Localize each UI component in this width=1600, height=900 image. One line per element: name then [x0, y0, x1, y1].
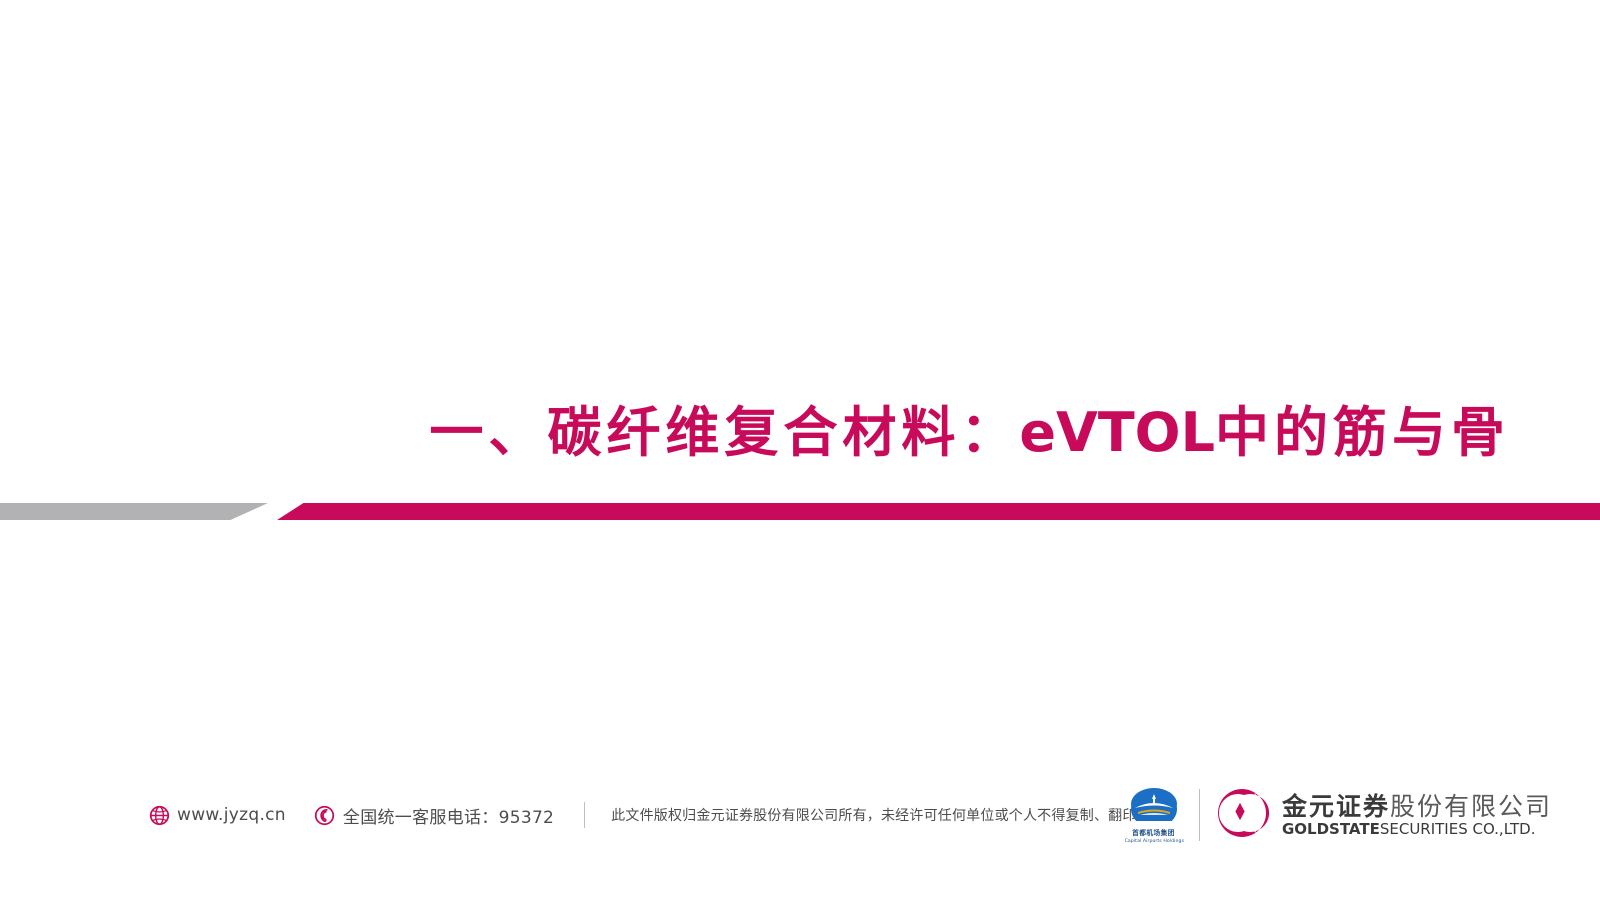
capital-airports-logo: 首都机场集团 Capital Airports Holdings: [1123, 787, 1185, 844]
footer-separator: [584, 802, 585, 828]
divider-gray-segment: [0, 503, 268, 520]
footer-copyright: 此文件版权归金元证券股份有限公司所有，未经许可任何单位或个人不得复制、翻印。: [611, 805, 1151, 825]
footer-info-group: www.jyzq.cn 全国统一客服电话：95372 此文件版权归金元证券股份有…: [148, 800, 1151, 830]
page-title-container: 一、碳纤维复合材料：eVTOL中的筋与骨: [0, 385, 1510, 480]
page-title: 一、碳纤维复合材料：eVTOL中的筋与骨: [429, 405, 1510, 460]
divider-accent-segment: [277, 503, 1600, 520]
goldstate-name-cn: 金元证券股份有限公司: [1282, 793, 1552, 820]
goldstate-crescent-icon: [1214, 787, 1270, 844]
section-divider-slide: 一、碳纤维复合材料：eVTOL中的筋与骨 www.jyzq.cn: [0, 0, 1600, 900]
page-title-prefix: 一、碳纤维复合材料：: [429, 400, 1019, 464]
capital-airports-name-cn: 首都机场集团: [1133, 828, 1176, 838]
goldstate-name-cn-thin: 股份有限公司: [1390, 792, 1552, 821]
page-title-suffix: 中的筋与骨: [1215, 400, 1510, 464]
goldstate-name-en-bold: GOLDSTATE: [1282, 820, 1380, 838]
capital-airports-mark-icon: [1129, 787, 1179, 826]
phone-icon: [314, 804, 336, 826]
goldstate-name-cn-bold: 金元证券: [1282, 792, 1390, 821]
goldstate-name-en: GOLDSTATESECURITIES CO.,LTD.: [1282, 821, 1552, 838]
footer-logo-group: 首都机场集团 Capital Airports Holdings 金元证券股: [1123, 782, 1552, 848]
goldstate-logo: 金元证券股份有限公司 GOLDSTATESECURITIES CO.,LTD.: [1214, 787, 1552, 844]
footer-website[interactable]: www.jyzq.cn: [148, 804, 286, 826]
goldstate-name-block: 金元证券股份有限公司 GOLDSTATESECURITIES CO.,LTD.: [1282, 793, 1552, 838]
divider: [0, 503, 1600, 520]
logo-divider: [1199, 789, 1200, 841]
capital-airports-name-en: Capital Airports Holdings: [1124, 838, 1183, 844]
footer-website-label: www.jyzq.cn: [177, 805, 286, 825]
footer: www.jyzq.cn 全国统一客服电话：95372 此文件版权归金元证券股份有…: [0, 780, 1600, 900]
footer-hotline[interactable]: 全国统一客服电话：95372: [314, 803, 554, 828]
globe-icon: [148, 804, 170, 826]
footer-hotline-label: 全国统一客服电话：95372: [343, 803, 554, 828]
page-title-latin: eVTOL: [1019, 401, 1215, 464]
goldstate-name-en-rest: SECURITIES CO.,LTD.: [1380, 820, 1536, 838]
